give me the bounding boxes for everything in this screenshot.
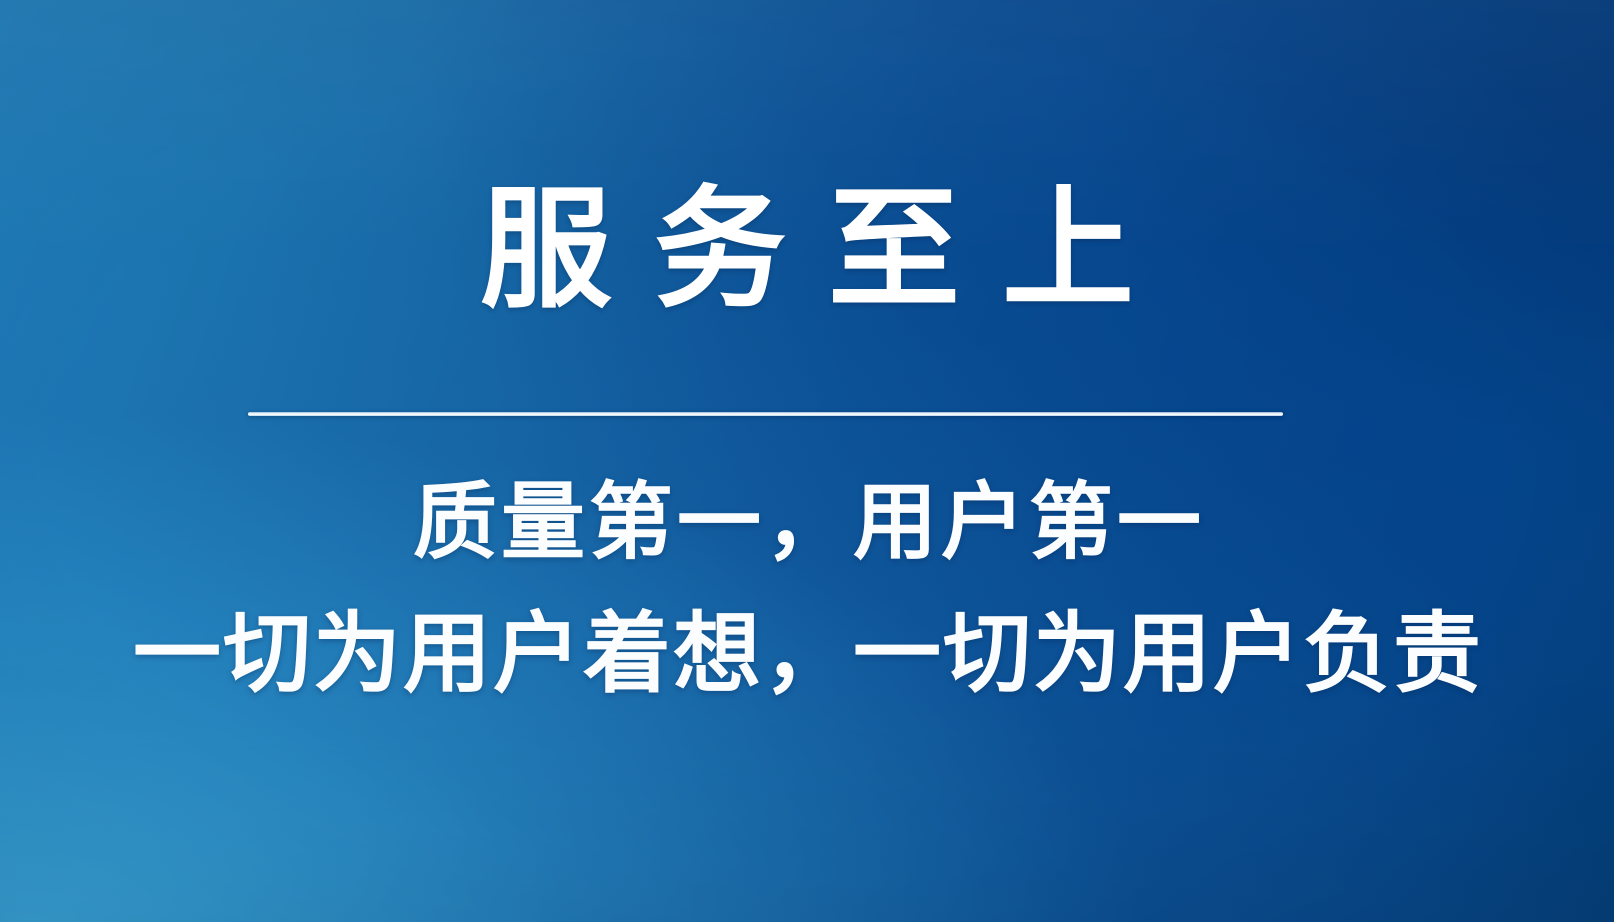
service-slogan-poster: 服务至上 质量第一，用户第一 一切为用户着想，一切为用户负责	[0, 0, 1614, 922]
page-title: 服务至上	[0, 176, 1614, 324]
title-divider	[248, 412, 1283, 416]
poster-content: 服务至上 质量第一，用户第一 一切为用户着想，一切为用户负责	[0, 0, 1614, 922]
subtitle-line-1: 质量第一，用户第一	[0, 455, 1614, 576]
subtitle-line-2: 一切为用户着想，一切为用户负责	[0, 583, 1614, 710]
